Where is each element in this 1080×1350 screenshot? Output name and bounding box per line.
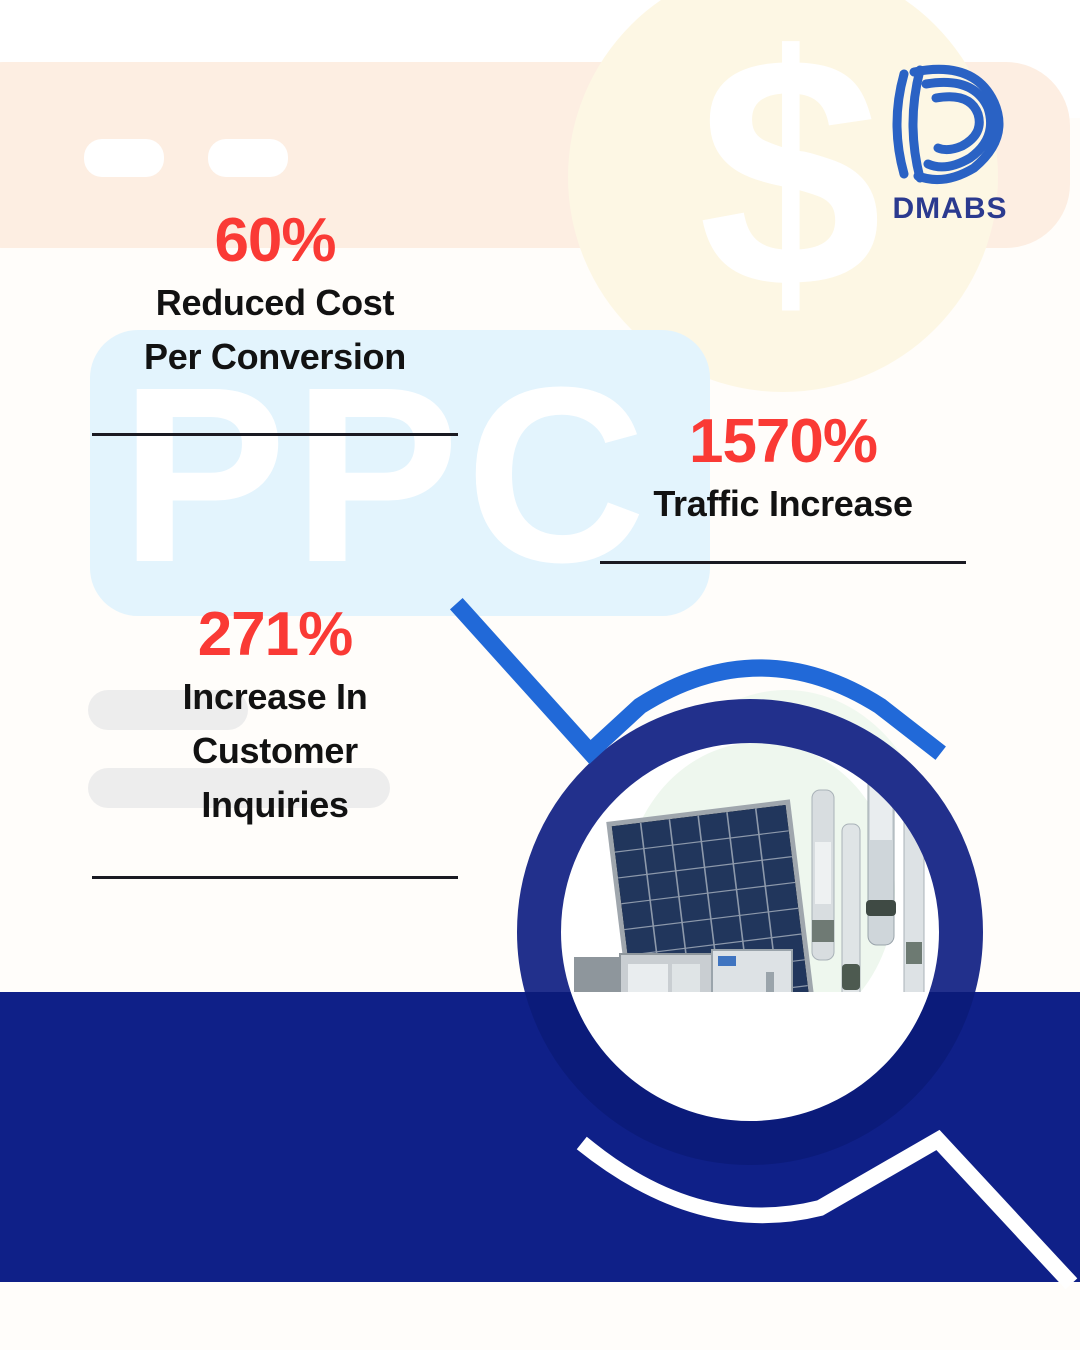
stat-label-inq-line3: Inquiries <box>92 778 458 832</box>
stat-divider-1 <box>92 433 458 436</box>
stat-reduced-cost: 60% Reduced Cost Per Conversion <box>92 206 458 384</box>
brand-wordmark: DMABS <box>882 192 1018 226</box>
stat-value-1570: 1570% <box>600 407 966 477</box>
stat-divider-2 <box>600 561 966 564</box>
white-trend-line <box>588 1140 1066 1278</box>
dmabs-monogram-icon <box>882 58 1018 190</box>
stat-label-inq-line2: Customer <box>92 724 458 778</box>
stat-label-inq-line1: Increase In <box>92 670 458 724</box>
stat-divider-3 <box>92 876 458 879</box>
stat-label-line1: Reduced Cost <box>92 276 458 330</box>
brand-logo[interactable]: DMABS <box>882 58 1018 230</box>
stat-value-60: 60% <box>92 206 458 276</box>
stat-customer-inquiries: 271% Increase In Customer Inquiries <box>92 600 458 832</box>
stat-traffic-increase: 1570% Traffic Increase <box>600 407 966 531</box>
stat-value-271: 271% <box>92 600 458 670</box>
stat-label-line2: Per Conversion <box>92 330 458 384</box>
magnifier-lens-lower <box>560 742 940 1122</box>
stat-label-traffic: Traffic Increase <box>600 477 966 531</box>
infographic-canvas: $ PPC <box>0 0 1080 1350</box>
